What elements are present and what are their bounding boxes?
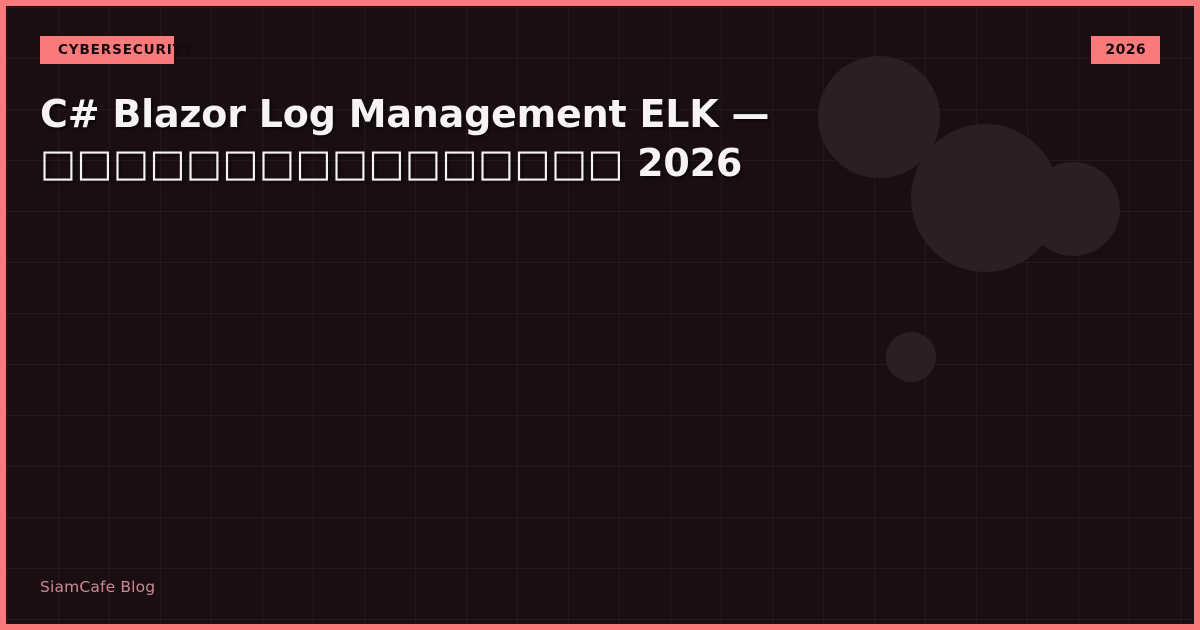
page-title-line-2: □□□□□□□□□□□□□□□□ 2026 [40,139,840,188]
page-title-line-1: C# Blazor Log Management ELK — [40,90,840,139]
page-title: C# Blazor Log Management ELK — □□□□□□□□□… [40,90,840,187]
page-title-line-2-year: 2026 [624,141,742,185]
card-header-row: CYBERSECURITY 2026 [40,36,1160,66]
content-spacer [40,187,1160,578]
footer-site-name: SiamCafe Blog [40,578,1160,598]
year-badge: 2026 [1091,36,1160,64]
category-badge: CYBERSECURITY [40,36,174,64]
card-content: CYBERSECURITY 2026 C# Blazor Log Managem… [6,6,1194,624]
page-title-line-2-thai-text: □□□□□□□□□□□□□□□□ [40,141,624,185]
social-share-card: CYBERSECURITY 2026 C# Blazor Log Managem… [0,0,1200,630]
